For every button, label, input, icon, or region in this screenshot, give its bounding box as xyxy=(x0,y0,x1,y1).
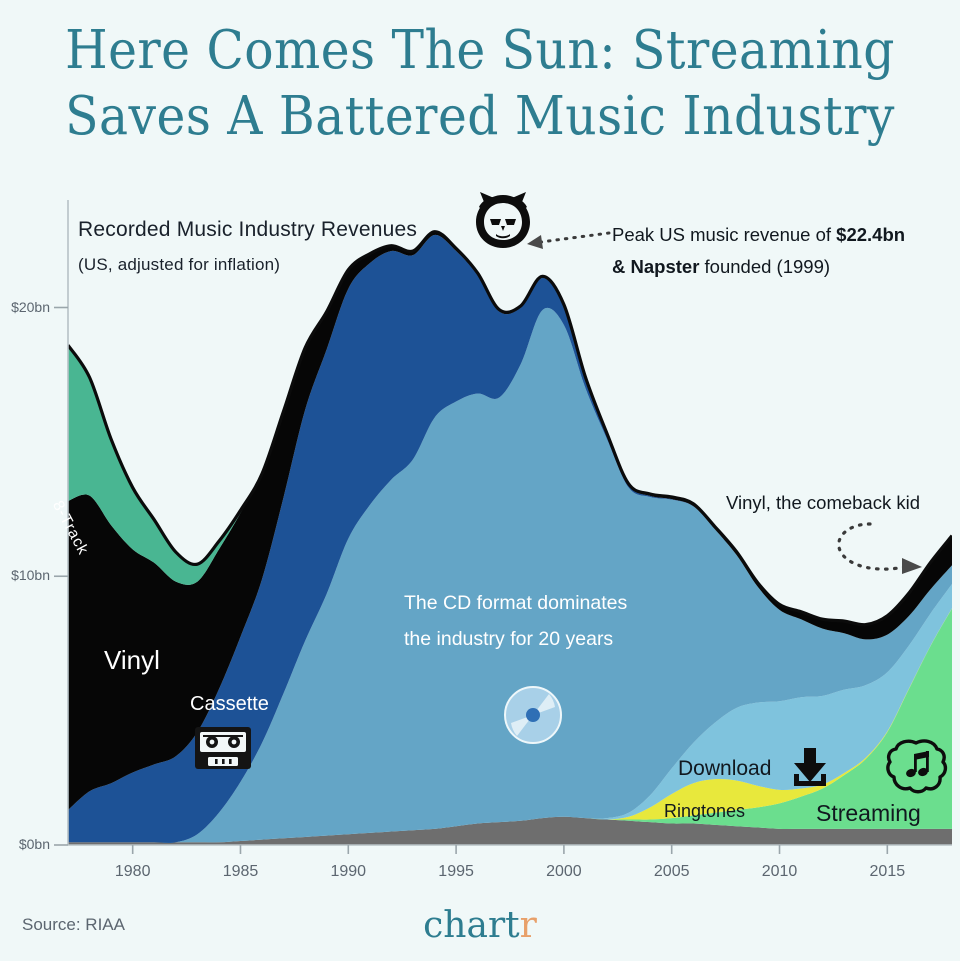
vinyl-comeback-arrow-icon xyxy=(812,518,940,588)
chart-subtitle-note: (US, adjusted for inflation) xyxy=(78,255,280,275)
annotation-napster: & Napster xyxy=(612,256,699,277)
peak-callout-arrow-icon xyxy=(505,225,615,255)
chart-subtitle: Recorded Music Industry Revenues xyxy=(78,218,417,242)
x-tick-label: 2010 xyxy=(745,863,815,881)
annotation-peak-revenue: Peak US music revenue of $22.4bn & Napst… xyxy=(612,219,960,283)
annotation-napster-post: founded (1999) xyxy=(699,256,830,277)
annotation-peak-pre: Peak US music revenue of xyxy=(612,224,836,245)
download-arrow-icon xyxy=(790,748,830,790)
x-tick-label: 1990 xyxy=(313,863,383,881)
compact-disc-icon xyxy=(503,685,563,745)
annotation-vinyl-comeback: Vinyl, the comeback kid xyxy=(726,492,920,514)
brain-music-icon xyxy=(884,737,948,797)
x-tick-label: 1980 xyxy=(98,863,168,881)
series-label-streaming: Streaming xyxy=(816,800,921,827)
series-label-vinyl: Vinyl xyxy=(104,645,160,676)
chartr-logo: chartr xyxy=(0,905,960,946)
x-tick-label: 2015 xyxy=(852,863,922,881)
series-label-download: Download xyxy=(678,757,771,781)
x-tick-label: 1985 xyxy=(205,863,275,881)
y-tick-label: $0bn xyxy=(0,836,50,852)
annotation-cd-line1: The CD format dominates xyxy=(404,592,627,614)
series-label-cassette: Cassette xyxy=(190,693,269,716)
x-tick-label: 2005 xyxy=(637,863,707,881)
annotation-cd-line2: the industry for 20 years xyxy=(404,628,613,650)
annotation-peak-value: $22.4bn xyxy=(836,224,905,245)
series-label-ringtones: Ringtones xyxy=(664,801,745,822)
y-tick-label: $10bn xyxy=(0,567,50,583)
cassette-tape-icon xyxy=(195,727,251,769)
x-tick-label: 1995 xyxy=(421,863,491,881)
logo-text-chart: chart xyxy=(423,905,520,946)
x-tick-label: 2000 xyxy=(529,863,599,881)
annotation-cd-dominates: The CD format dominates the industry for… xyxy=(404,585,704,657)
y-tick-label: $20bn xyxy=(0,299,50,315)
logo-text-r: r xyxy=(520,905,537,946)
